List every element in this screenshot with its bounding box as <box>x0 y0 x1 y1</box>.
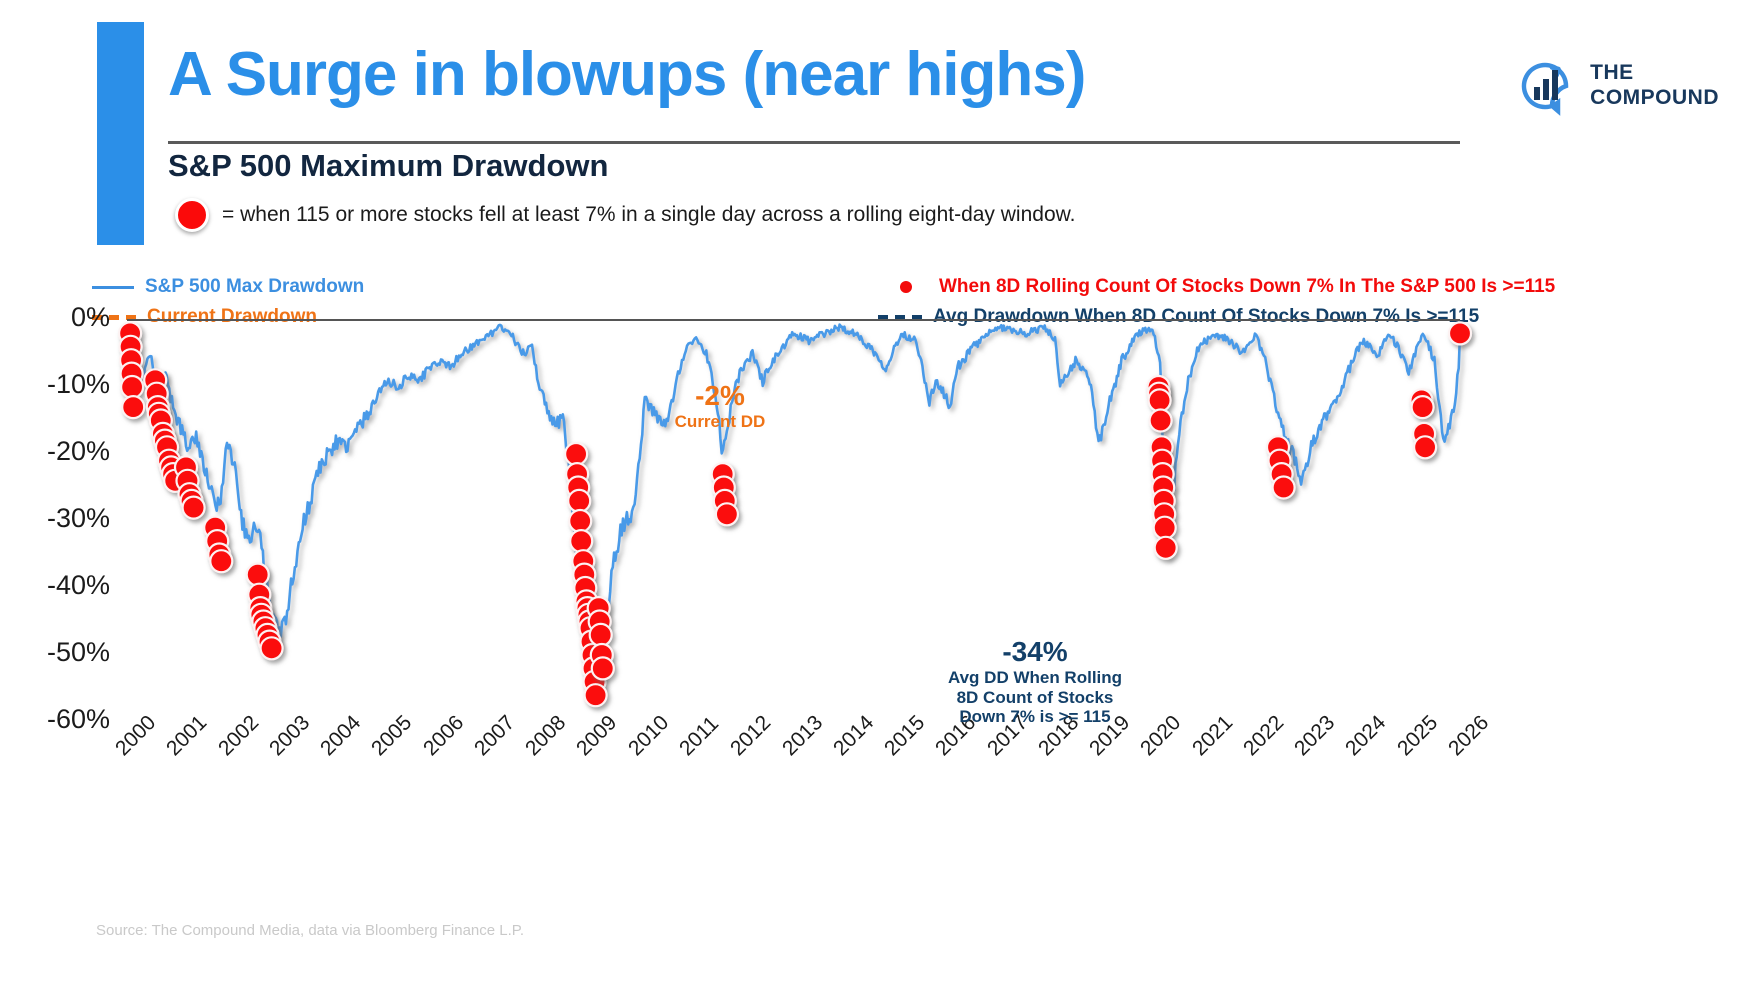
reference-lines <box>127 333 1460 547</box>
avg-dd-value: -34% <box>890 636 1180 668</box>
y-tick-label: -40% <box>0 570 110 601</box>
avg-drawdown-annotation: -34% Avg DD When Rolling 8D Count of Sto… <box>890 636 1180 727</box>
avg-dd-caption-2: 8D Count of Stocks <box>890 688 1180 708</box>
avg-dd-caption-1: Avg DD When Rolling <box>890 668 1180 688</box>
y-tick-label: -30% <box>0 503 110 534</box>
source-note: Source: The Compound Media, data via Blo… <box>96 922 524 939</box>
current-drawdown-annotation: -2% Current DD <box>630 380 810 432</box>
y-tick-label: -20% <box>0 436 110 467</box>
current-dd-value: -2% <box>630 380 810 412</box>
chart-plot-area: 0%-10%-20%-30%-40%-50%-60% 2000200120022… <box>0 0 1749 984</box>
y-tick-label: 0% <box>0 302 110 333</box>
avg-dd-caption-3: Down 7% is >= 115 <box>890 707 1180 727</box>
y-tick-label: -10% <box>0 369 110 400</box>
y-tick-label: -50% <box>0 637 110 668</box>
y-tick-label: -60% <box>0 704 110 735</box>
current-dd-caption: Current DD <box>630 412 810 432</box>
max-drawdown-line <box>127 325 1460 687</box>
drawdown-chart-svg <box>0 0 1749 984</box>
